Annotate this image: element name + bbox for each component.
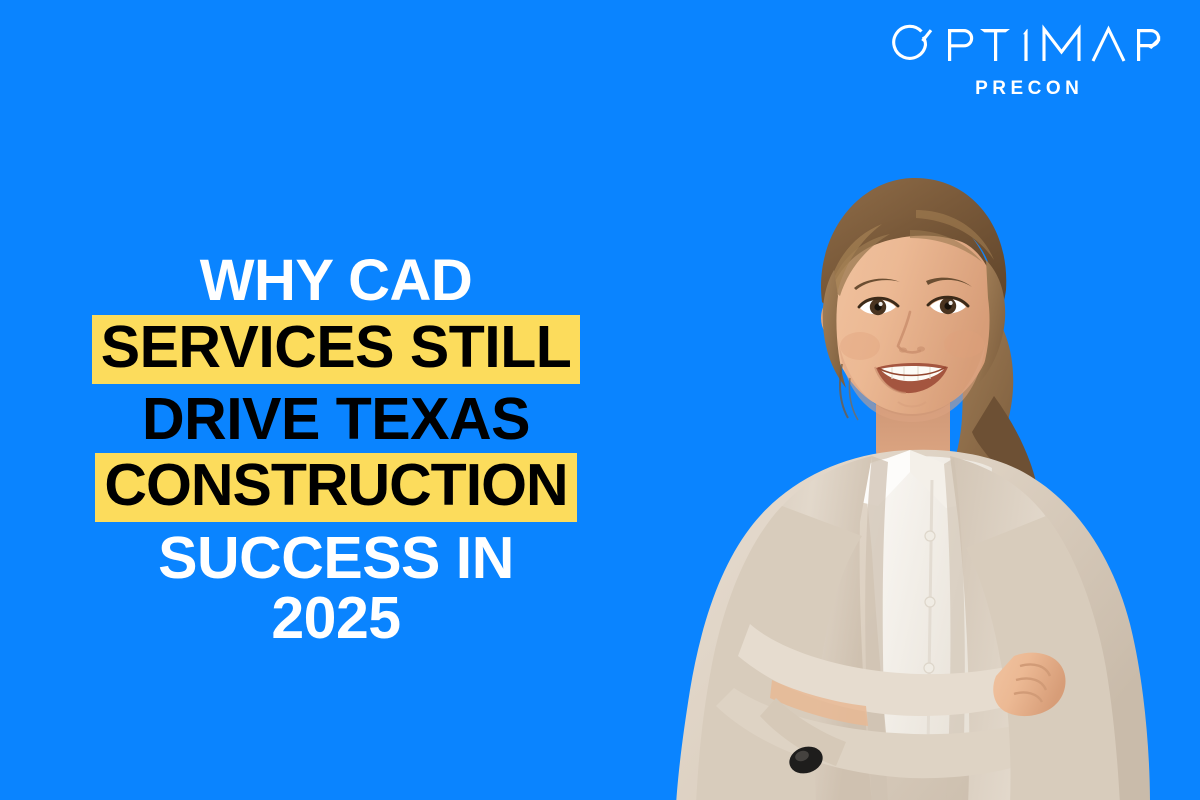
brand-logo: PRECON [892,22,1162,98]
headline-block: WHY CAD SERVICES STILL DRIVE TEXAS CONST… [0,252,672,647]
headline-line-6-year: 2025 [271,589,400,647]
headline-line-1: WHY CAD [200,252,473,309]
headline-line-2-highlighted: SERVICES STILL [92,315,581,383]
headline-line-5: SUCCESS IN [158,529,514,587]
logo-subtitle-precon: PRECON [971,79,1084,98]
logo-wordmark-optimar [892,22,1162,68]
businesswoman-photo [610,150,1200,800]
banner-canvas: PRECON WHY CAD SERVICES STILL DRIVE TEXA… [0,0,1200,800]
optimar-logotype-icon [892,22,1162,68]
headline-line-4-highlighted: CONSTRUCTION [95,453,576,521]
businesswoman-portrait-icon [610,150,1200,800]
headline-line-3: DRIVE TEXAS [142,390,530,448]
